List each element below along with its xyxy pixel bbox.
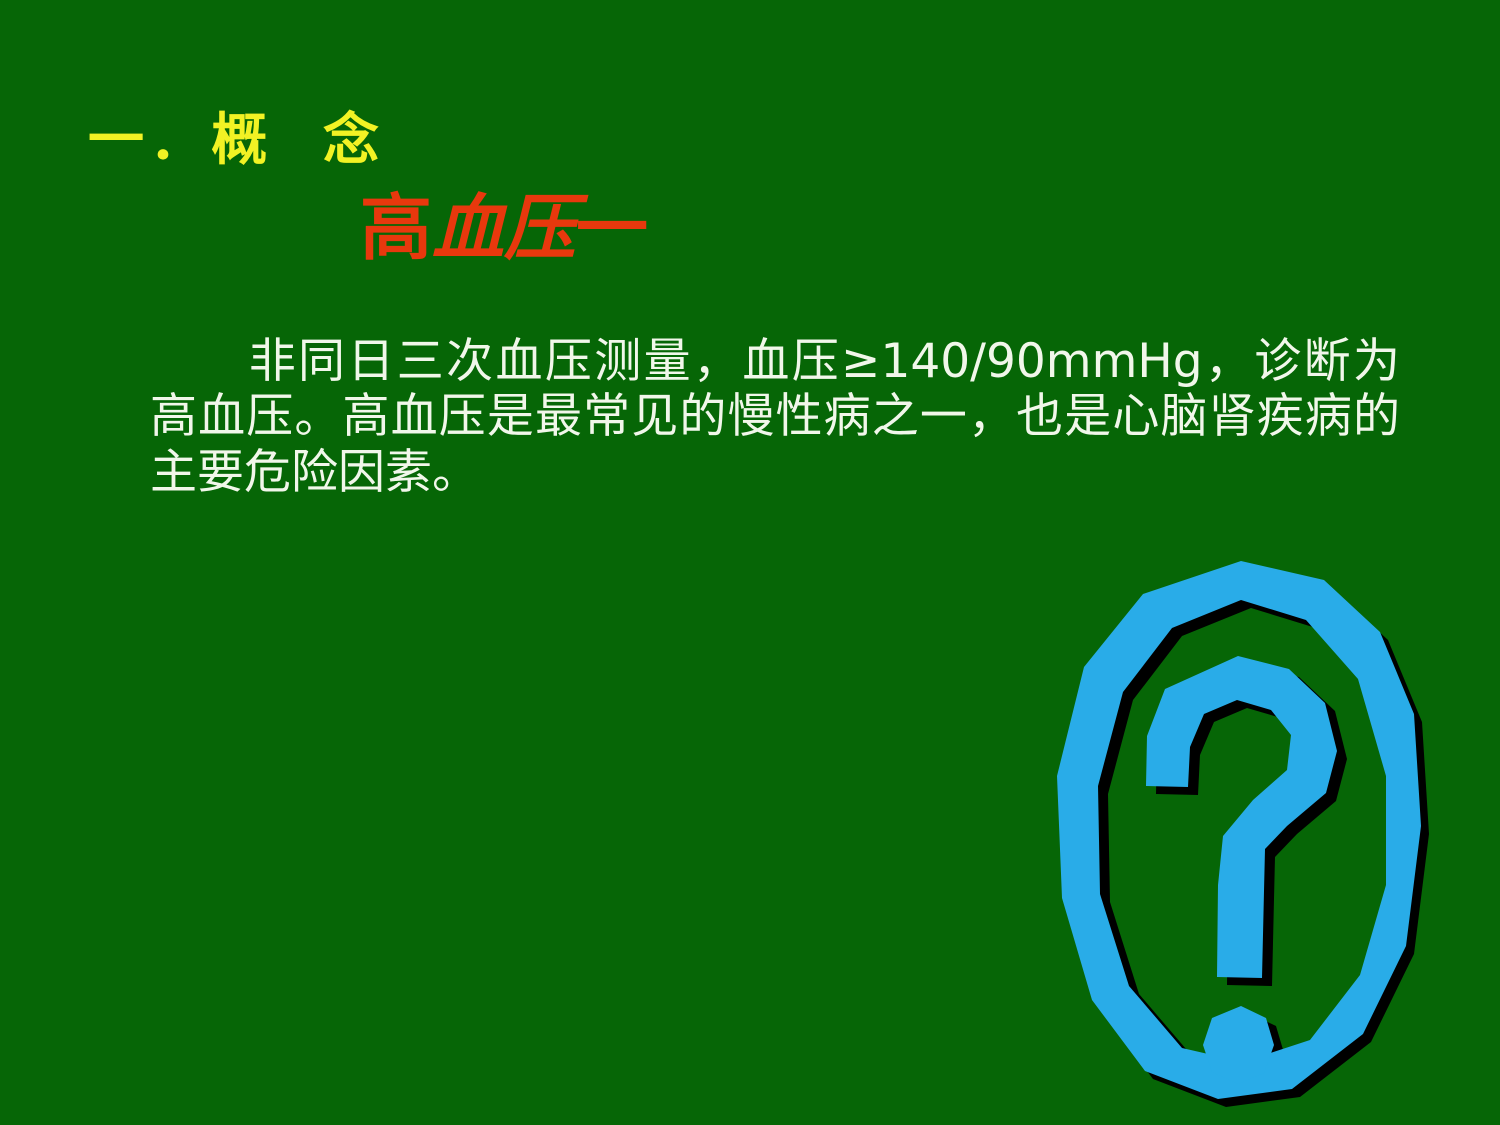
qm-blue-layer xyxy=(1057,561,1421,1099)
question-mark-svg xyxy=(1048,556,1438,1125)
red-subtitle-prefix: 高 xyxy=(360,186,432,270)
red-subtitle: 高血压一 xyxy=(360,192,648,264)
question-mark-icon xyxy=(1048,556,1438,1125)
red-subtitle-emphasis: 血压 xyxy=(432,186,576,270)
body-paragraph: 非同日三次血压测量，血压≥140/90mmHg，诊断为高血压。高血压是最常见的慢… xyxy=(150,334,1400,500)
red-subtitle-suffix: 一 xyxy=(576,186,648,270)
section-heading: 一．概 念 xyxy=(88,112,385,171)
slide-canvas: 一．概 念 高血压一 非同日三次血压测量，血压≥140/90mmHg，诊断为高血… xyxy=(0,0,1500,1125)
